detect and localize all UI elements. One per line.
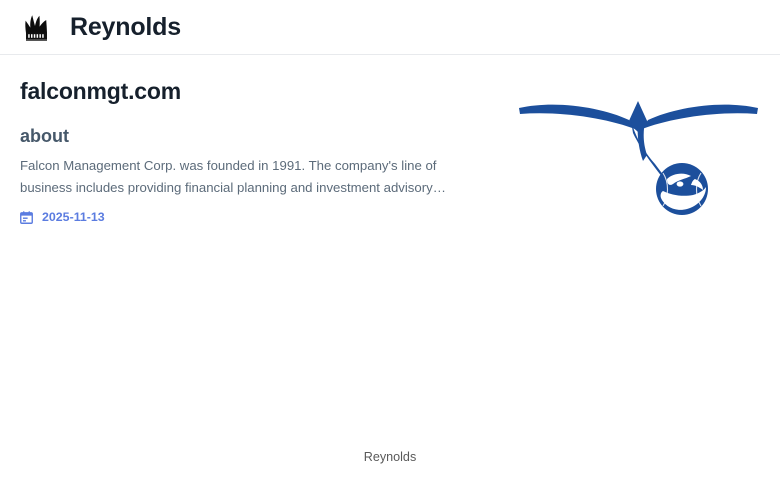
result-date: 2025-11-13 bbox=[42, 211, 105, 223]
result-text-column: falconmgt.com about Falcon Management Co… bbox=[20, 77, 500, 224]
result-section-label: about bbox=[20, 125, 500, 148]
calendar-icon bbox=[20, 211, 33, 224]
site-footer: Reynolds bbox=[0, 421, 780, 493]
footer-brand-text: Reynolds bbox=[364, 450, 417, 464]
search-result-item: falconmgt.com about Falcon Management Co… bbox=[20, 77, 760, 224]
main-content: falconmgt.com about Falcon Management Co… bbox=[0, 55, 780, 421]
result-meta-row: 2025-11-13 bbox=[20, 211, 500, 224]
site-header: Reynolds bbox=[0, 0, 780, 55]
brand-title: Reynolds bbox=[70, 15, 181, 40]
result-domain[interactable]: falconmgt.com bbox=[20, 77, 500, 107]
crown-emblem-icon bbox=[22, 11, 52, 43]
result-snippet: Falcon Management Corp. was founded in 1… bbox=[20, 155, 482, 198]
falcon-globe-logo bbox=[517, 87, 760, 217]
